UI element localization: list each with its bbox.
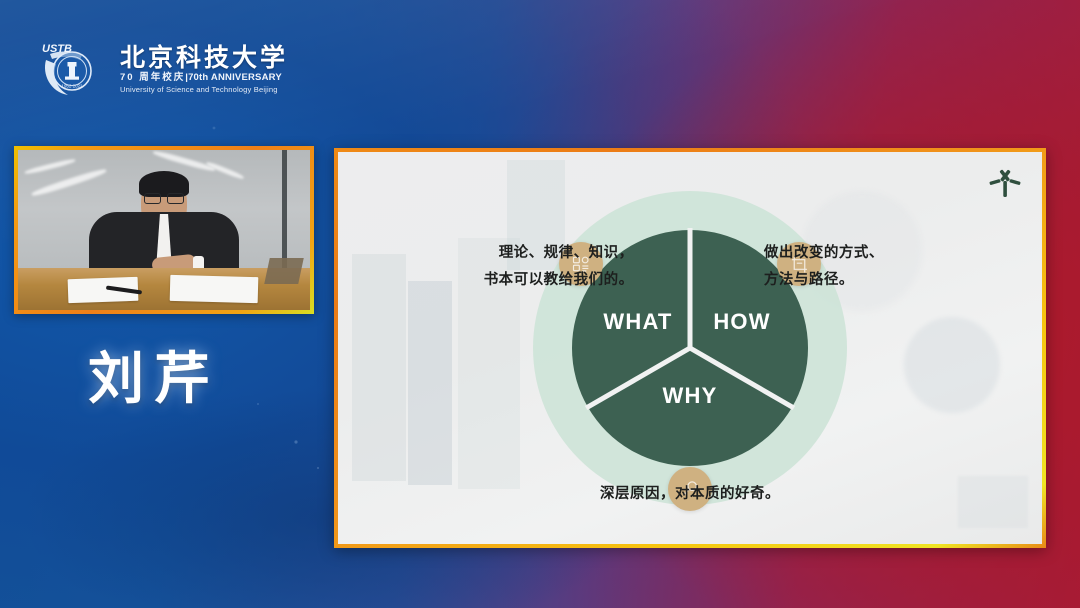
university-logo: 1952·2022 USTB 北京科技大学 70 周年校庆|70th ANNIV… (40, 40, 288, 98)
speaker-video-frame (18, 150, 310, 310)
pie-label-how: HOW (713, 309, 770, 335)
anniversary-en: 70th ANNIVERSARY (188, 72, 282, 83)
callout-what-line-1: 理论、规律、知识， (484, 240, 634, 267)
starburst-icon (988, 166, 1022, 200)
video-paper-right (170, 275, 259, 303)
video-laptop (264, 258, 304, 284)
speaker-name: 刘芹 (88, 352, 220, 408)
callout-why-line-1: 深层原因，对本质的好奇。 (600, 481, 780, 508)
slide-bg-column (408, 281, 452, 485)
slide-bg-circle (904, 317, 1000, 413)
speaker-video-tile[interactable] (14, 146, 314, 314)
university-logo-text: 北京科技大学 70 周年校庆|70th ANNIVERSARY Universi… (120, 44, 288, 95)
usta-logo-mark: 1952·2022 USTB (40, 40, 112, 98)
callout-what: 理论、规律、知识， 书本可以教给我们的。 (484, 240, 634, 294)
pie-label-what: WHAT (603, 309, 672, 335)
anniversary-cn: 70 周年校庆 (120, 72, 185, 83)
pie-label-why: WHY (663, 383, 718, 409)
svg-text:USTB: USTB (42, 43, 72, 55)
callout-why: 深层原因，对本质的好奇。 (600, 481, 780, 508)
presentation-slide: WHAT HOW WHY (338, 152, 1042, 544)
presentation-slide-frame[interactable]: WHAT HOW WHY (334, 148, 1046, 548)
slide-bg-column (352, 254, 406, 481)
university-name-en: University of Science and Technology Bei… (120, 86, 288, 95)
callout-how-line-1: 做出改变的方式、 (764, 240, 884, 267)
slide-bg-block (958, 476, 1028, 528)
callout-how: 做出改变的方式、 方法与路径。 (764, 240, 884, 294)
video-person-glasses (144, 193, 184, 202)
university-name-cn: 北京科技大学 (120, 46, 288, 71)
callout-how-line-2: 方法与路径。 (764, 267, 884, 294)
callout-what-line-2: 书本可以教给我们的。 (484, 267, 634, 294)
video-door-frame (282, 150, 287, 268)
anniversary-line: 70 周年校庆|70th ANNIVERSARY (120, 73, 288, 84)
svg-text:1952·2022: 1952·2022 (62, 84, 84, 89)
